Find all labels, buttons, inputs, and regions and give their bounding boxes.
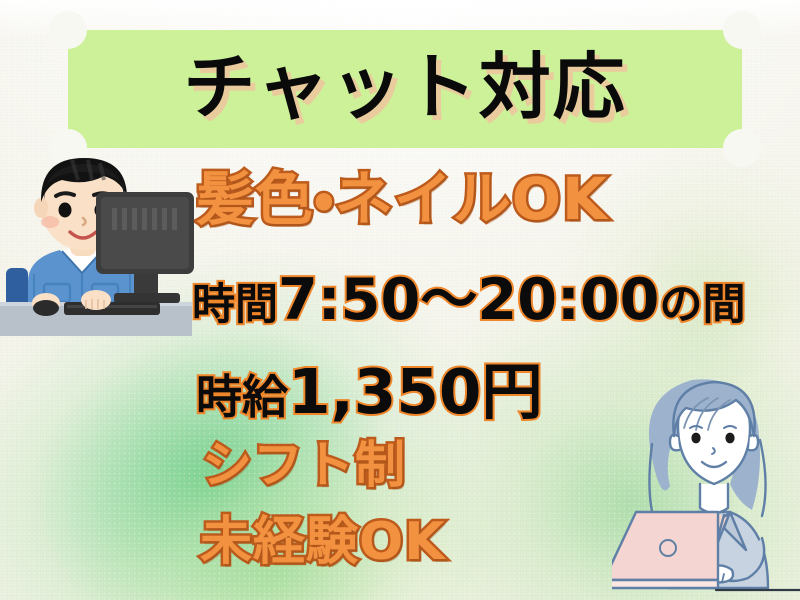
highlight-hair-nail: 髪色・ネイルOK [196,170,608,228]
hours-value: 7:50〜20:00 [278,267,659,333]
hours-suffix: の間 [659,280,745,330]
hours-label: 時間 [192,280,278,330]
wage-label: 時給 [196,370,288,424]
illustration-woman-with-laptop [612,352,800,600]
title-banner: チャット対応 [68,30,742,148]
highlight-shift-system: シフト制 [202,440,406,490]
highlight-no-experience: 未経験OK [200,516,446,568]
woman-laptop-icon [612,352,800,600]
illustration-man-at-desktop-computer [0,150,196,340]
wage-value: 1,350円 [288,357,543,428]
wage-line: 時給1,350円 [196,362,543,423]
banner-title-text: チャット対応 [68,30,742,148]
hours-line: 時間7:50〜20:00の間 [192,272,745,329]
man-computer-icon [0,150,196,340]
job-ad-poster: チャット対応 髪色・ネイルOK 時間7:50〜20:00の間 時給1,350円 … [0,0,800,600]
